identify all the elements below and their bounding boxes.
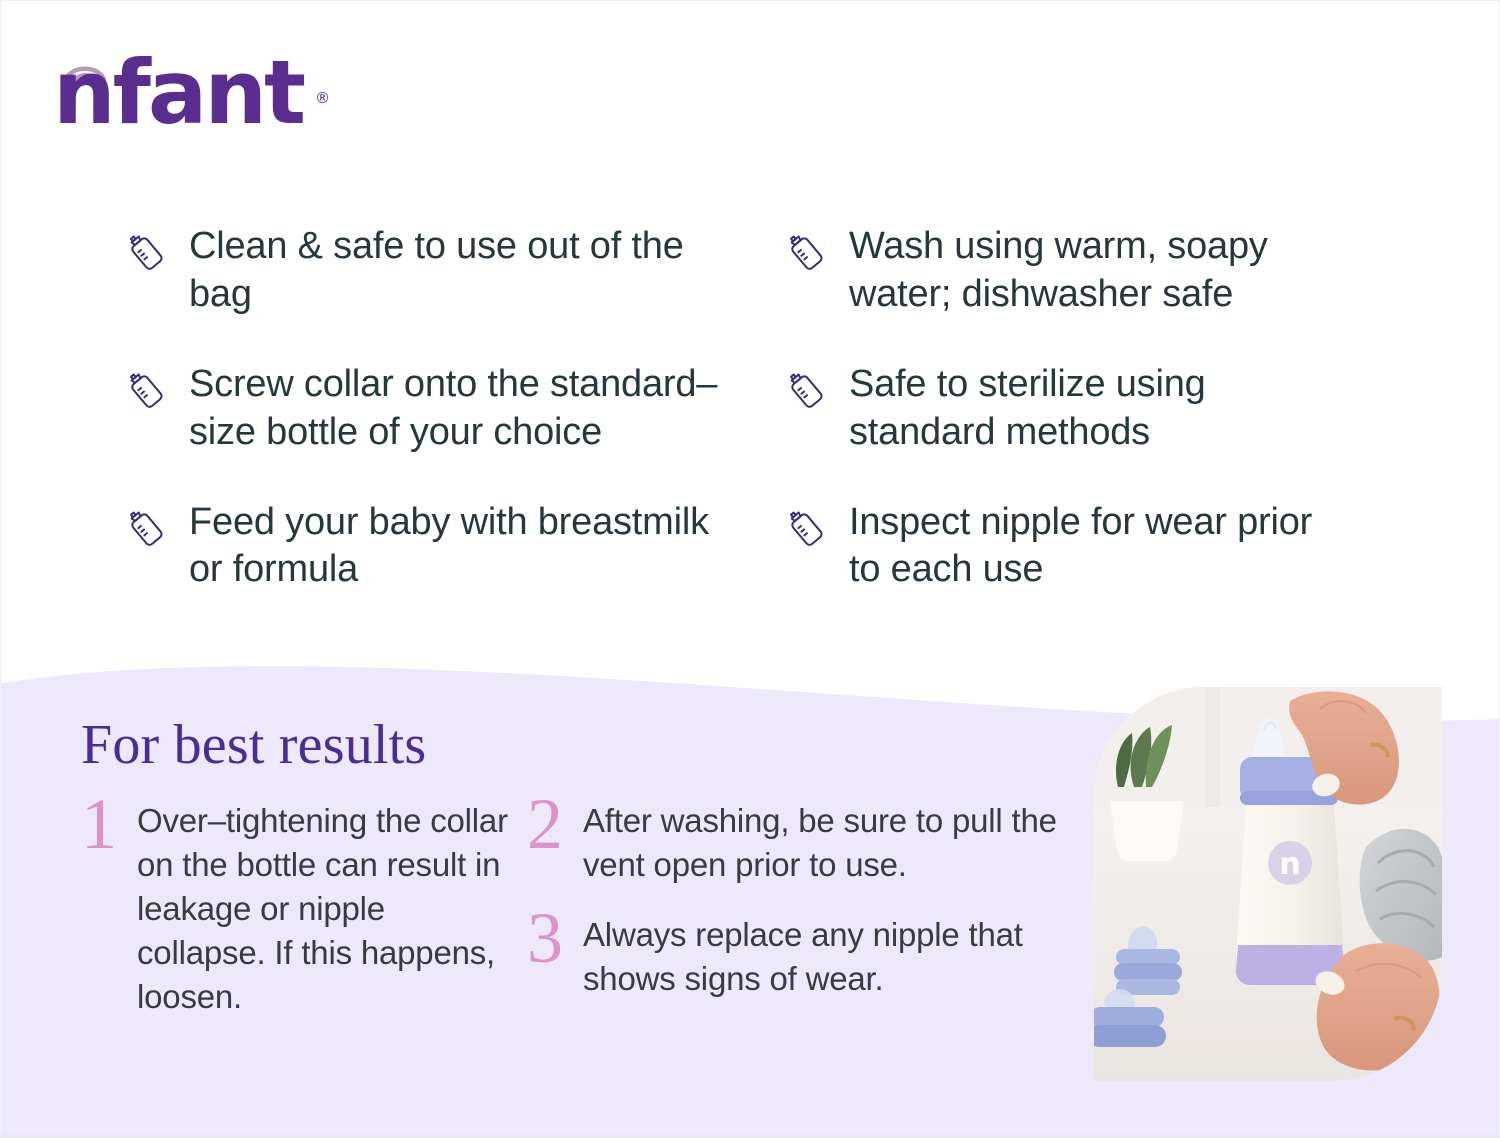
feature-list: Clean & safe to use out of the bag Screw… <box>121 223 1401 636</box>
best-results-heading: For best results <box>81 717 1091 773</box>
bottle-logo-letter: n <box>1279 847 1300 882</box>
tip-text: After washing, be sure to pull the vent … <box>583 799 1087 887</box>
tips-column-left: 1 Over–tightening the collar on the bott… <box>81 799 511 1044</box>
product-photo-illustration: n <box>1094 687 1442 1081</box>
feature-column-right: Wash using warm, soapy water; dishwasher… <box>121 223 1341 636</box>
feature-item: Wash using warm, soapy water; dishwasher… <box>781 223 1341 319</box>
tip-number: 3 <box>527 909 583 968</box>
nfant-logo: nfant ® <box>53 43 373 153</box>
tip-item: 2 After washing, be sure to pull the ven… <box>527 799 1087 887</box>
feature-text: Safe to sterilize using standard methods <box>849 361 1341 457</box>
feature-text: Inspect nipple for wear prior to each us… <box>849 499 1341 595</box>
baby-bottle-icon <box>781 367 827 413</box>
baby-bottle-icon <box>781 505 827 551</box>
baby-bottle-icon <box>781 229 827 275</box>
registered-trademark-symbol: ® <box>315 91 330 106</box>
feature-text: Wash using warm, soapy water; dishwasher… <box>849 223 1341 319</box>
feature-item: Inspect nipple for wear prior to each us… <box>781 499 1341 595</box>
best-results-section: For best results 1 Over–tightening the c… <box>81 717 1091 1044</box>
tips-container: 1 Over–tightening the collar on the bott… <box>81 799 1091 1044</box>
tip-item: 1 Over–tightening the collar on the bott… <box>81 799 511 1018</box>
infographic-page: nfant ® Clean & safe to use out of the b… <box>0 0 1500 1138</box>
tip-text: Always replace any nipple that shows sig… <box>583 913 1087 1001</box>
tip-item: 3 Always replace any nipple that shows s… <box>527 913 1087 1001</box>
tip-number: 1 <box>81 795 137 854</box>
logo-wordmark: nfant <box>53 49 303 137</box>
product-photo: n <box>1094 687 1442 1081</box>
tip-text: Over–tightening the collar on the bottle… <box>137 799 511 1018</box>
tips-column-right: 2 After washing, be sure to pull the ven… <box>527 799 1087 1027</box>
tip-number: 2 <box>527 795 583 854</box>
feature-item: Safe to sterilize using standard methods <box>781 361 1341 457</box>
